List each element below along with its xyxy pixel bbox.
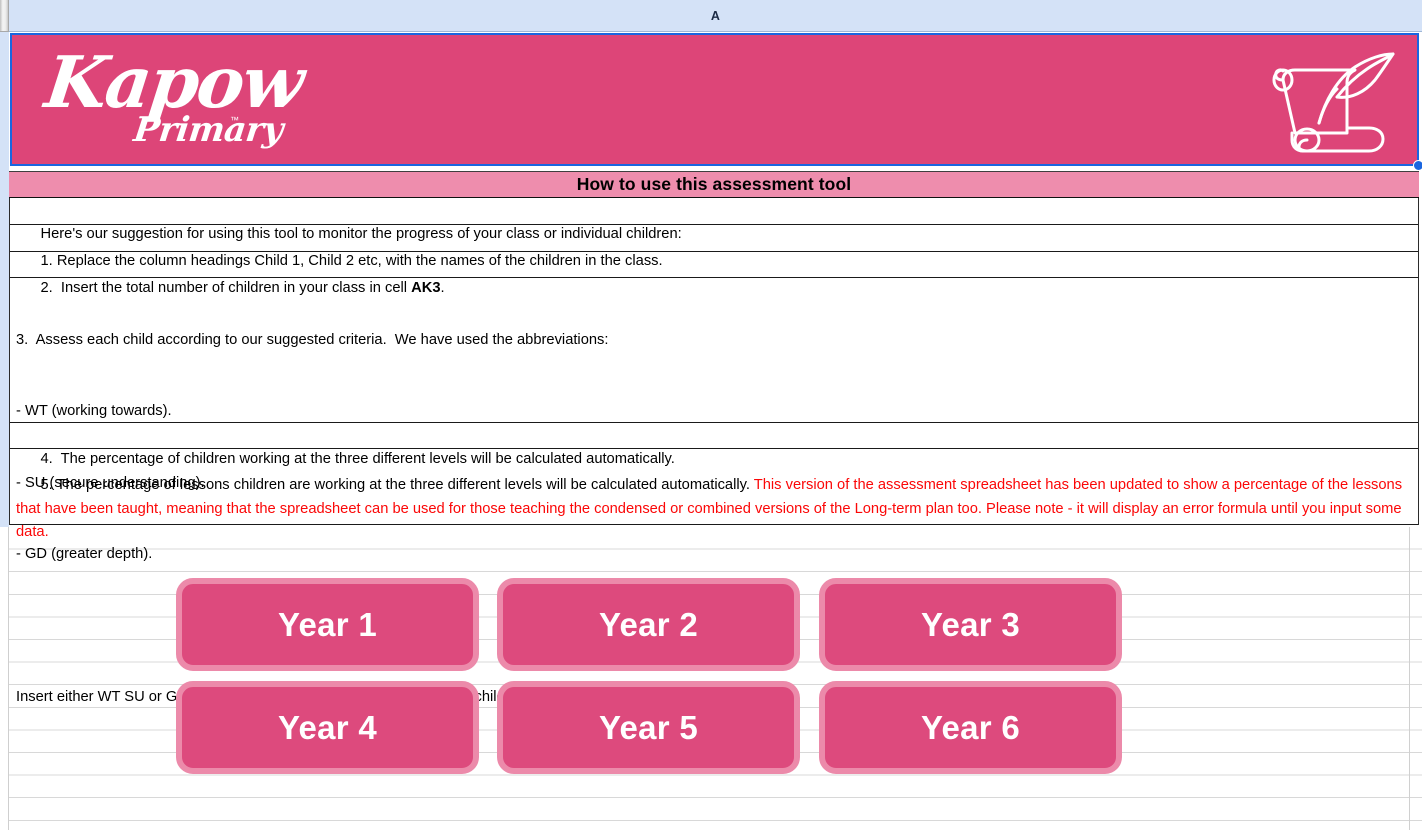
instruction-row-step4[interactable]: 4. The percentage of children working at…: [10, 423, 1418, 449]
instruction-text-intro: Here's our suggestion for using this too…: [40, 226, 681, 242]
year-3-button[interactable]: Year 3: [819, 578, 1122, 671]
instructions-table: Here's our suggestion for using this too…: [9, 198, 1419, 525]
select-all-corner[interactable]: [0, 0, 9, 32]
instruction-text-step5-black: 5. The percentage of lessons children ar…: [40, 477, 753, 493]
spreadsheet-canvas: A Kapow Primary ™: [0, 0, 1422, 830]
column-header-row: A: [0, 0, 1422, 32]
year-2-button[interactable]: Year 2: [497, 578, 800, 671]
instruction-text-step1: 1. Replace the column headings Child 1, …: [40, 253, 662, 269]
scroll-quill-icon: [1259, 39, 1399, 161]
instruction-text-step4: 4. The percentage of children working at…: [40, 451, 674, 467]
selection-fill-handle[interactable]: [1413, 160, 1422, 171]
logo-trademark: ™: [230, 115, 239, 125]
logo-wordmark-primary: Primary: [132, 113, 285, 147]
year-5-button[interactable]: Year 5: [497, 681, 800, 774]
logo-wordmark-kapow: Kapow: [42, 47, 307, 118]
column-header-a[interactable]: A: [9, 0, 1422, 32]
year-1-button[interactable]: Year 1: [176, 578, 479, 671]
instruction-text-step3-line4: - GD (greater depth).: [16, 543, 1413, 567]
instruction-text-step2-suffix: .: [441, 280, 445, 296]
kapow-banner[interactable]: Kapow Primary ™: [10, 33, 1419, 166]
instruction-text-step3-line2: - WT (working towards).: [16, 400, 1413, 424]
instruction-text-step3-line1: 3. Assess each child according to our su…: [16, 329, 1413, 353]
assessment-tool-title-bar[interactable]: How to use this assessment tool: [9, 171, 1419, 198]
instruction-text-step2-prefix: 2. Insert the total number of children i…: [40, 280, 411, 296]
row-header-gutter-selected: [0, 32, 9, 527]
instruction-row-intro[interactable]: Here's our suggestion for using this too…: [10, 198, 1418, 225]
page-title: How to use this assessment tool: [577, 174, 851, 195]
year-4-button[interactable]: Year 4: [176, 681, 479, 774]
cell-reference-ak3: AK3: [411, 280, 440, 296]
year-6-button[interactable]: Year 6: [819, 681, 1122, 774]
kapow-logo: Kapow Primary ™: [38, 45, 268, 160]
